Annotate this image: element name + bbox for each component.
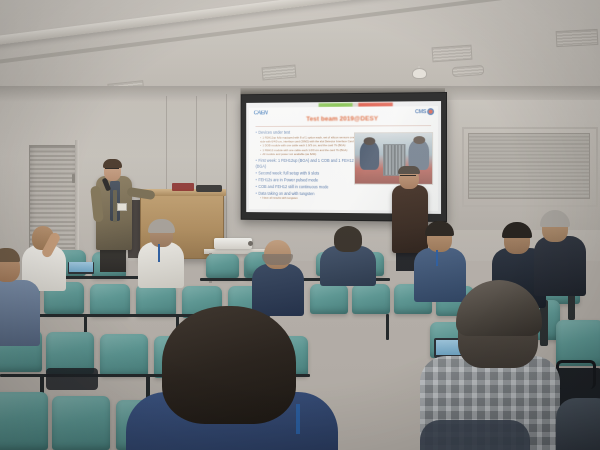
- slide-bullet: Second week: full setup with 9 slots: [256, 170, 361, 176]
- seat: [352, 284, 390, 314]
- speaker-name-badge: [117, 203, 127, 211]
- seat: [0, 392, 48, 450]
- wall-seam: [226, 94, 227, 244]
- slide-bullet-list: Devices under test 1 FEH12up fully equip…: [256, 129, 361, 202]
- projector-lens-icon: [248, 241, 253, 246]
- audience-hair: [148, 219, 175, 233]
- audience-member: [414, 248, 466, 302]
- seat: [52, 396, 110, 450]
- audience-member: [556, 398, 600, 450]
- slide-photo-person: [360, 141, 380, 169]
- bag: [46, 368, 98, 390]
- projector: [214, 238, 252, 249]
- audience-hair: [262, 254, 293, 265]
- podium-item-red: [172, 183, 194, 191]
- slide-photo-person-head: [363, 137, 374, 145]
- second-presenter-glasses-icon: [400, 175, 416, 179]
- slide-sub-bullet: Have all results with tungsten: [260, 197, 360, 202]
- slide-bullet: COB and FEH12 still in continuous mode: [256, 184, 361, 190]
- slide-title: Test beam 2019@DESY: [249, 115, 438, 123]
- audience-member: [138, 242, 184, 288]
- lanyard: [158, 244, 160, 262]
- seat-leg: [386, 314, 389, 340]
- slide-bullet: First week: 1 FEH12up (BGA) and 1 COB an…: [256, 158, 361, 170]
- slide-sub-bullet: All module and power not available (as 6…: [260, 153, 360, 157]
- ceiling-vent: [432, 45, 473, 63]
- lanyard: [296, 404, 300, 434]
- cms-logo-mark: [427, 108, 434, 115]
- slide-bullet: FEH12s are in Power pulsed mode: [256, 177, 361, 183]
- audience-member: [420, 420, 530, 450]
- second-presenter-hair: [398, 166, 420, 174]
- audience-head: [162, 306, 296, 424]
- seat: [100, 334, 148, 376]
- slide-photo: [354, 132, 433, 185]
- audience-member: [252, 264, 304, 316]
- second-presenter-jacket: [392, 185, 428, 253]
- speaker-hair: [103, 159, 122, 168]
- seat: [206, 254, 239, 278]
- window-blinds: [468, 133, 590, 199]
- lecture-hall-photo: CAEN CMS Test beam 2019@DESY Devices und…: [0, 0, 600, 450]
- slide-title-rule: [256, 125, 432, 127]
- podium-item-dark: [196, 185, 222, 192]
- bag-strap: [556, 360, 596, 389]
- laptop-screen: [69, 262, 93, 272]
- seat: [310, 284, 348, 314]
- seat: [90, 284, 130, 316]
- audience-head: [334, 226, 362, 252]
- door-frame: [75, 140, 79, 260]
- speaker-glasses-icon: [105, 168, 119, 172]
- audience-member: [0, 280, 40, 346]
- smoke-detector-icon: [412, 68, 427, 79]
- cms-logo-text: CMS: [415, 109, 426, 115]
- lanyard: [436, 250, 438, 266]
- seat: [136, 284, 176, 316]
- audience-member: [534, 236, 586, 296]
- ceiling-vent: [556, 29, 599, 47]
- audience-member: [320, 246, 376, 286]
- slide-photo-person-head: [413, 136, 425, 144]
